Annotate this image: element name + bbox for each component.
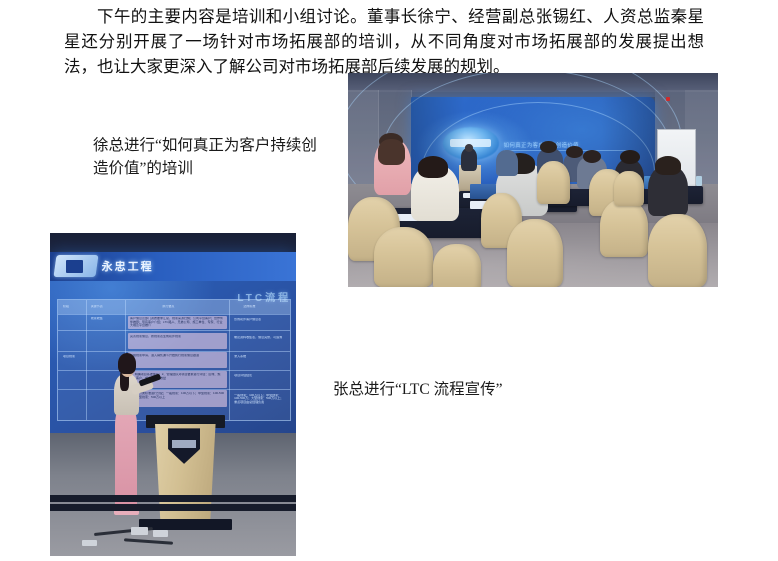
company-brand-text: 永忠工程 (102, 258, 154, 274)
floor-device (82, 540, 97, 546)
slide-table: 阶段 关键节点 执行要点 达成标准 项目线索 线索收集 客户信息及部门资质要求汇… (57, 299, 290, 420)
chair (507, 219, 563, 287)
chair (537, 161, 570, 204)
chair (600, 199, 648, 257)
document-page: 下午的主要内容是培训和小组讨论。董事长徐宁、经营副总张锡红、人资总监秦星星还分别… (0, 0, 778, 561)
ltc-presentation-photo: 永忠工程 LTC流程 (50, 233, 296, 556)
attendee (496, 150, 518, 176)
floor-device (153, 530, 168, 536)
chair (648, 214, 707, 287)
chair (374, 227, 433, 287)
body-paragraph: 下午的主要内容是培训和小组讨论。董事长徐宁、经营副总张锡红、人资总监秦星星还分别… (64, 4, 704, 79)
podium-led-screen: 永忠工程 LTC流程 (50, 252, 296, 433)
caption-zhang-ltc: 张总进行“LTC 流程宣传” (333, 378, 593, 401)
chair (433, 244, 481, 287)
chair (614, 171, 644, 205)
training-meeting-photo: 如何真正为客户持续创造价值 2022 (348, 73, 718, 287)
exit-light-icon (666, 97, 670, 101)
caption-xu-training: 徐总进行“如何真正为客户持续创造价值”的培训 (93, 134, 323, 180)
floor-device (131, 527, 148, 535)
